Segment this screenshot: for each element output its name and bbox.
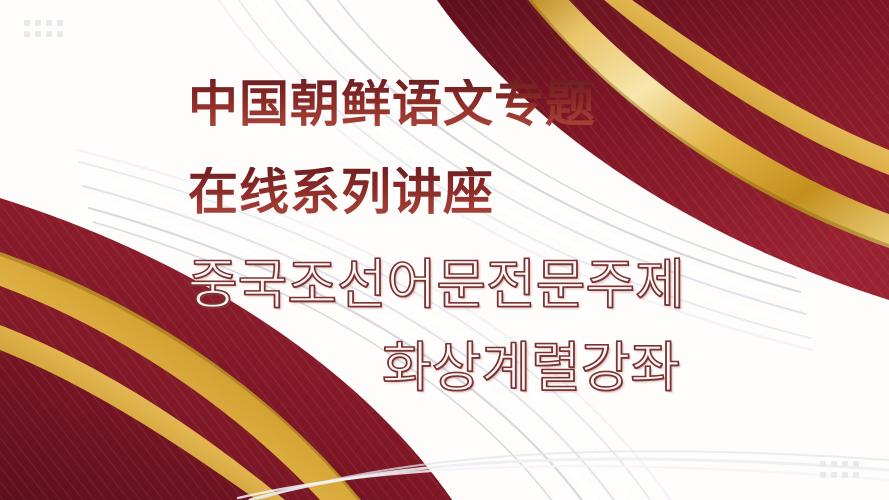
- decor-dot: [831, 472, 837, 478]
- decor-dot: [820, 472, 826, 478]
- dot-grid-top-left: [24, 20, 63, 37]
- decor-dot: [820, 461, 826, 467]
- decor-dot: [853, 461, 859, 467]
- decor-dot: [46, 20, 52, 26]
- decor-dot: [853, 472, 859, 478]
- decor-dot: [57, 31, 63, 37]
- decor-dot: [842, 472, 848, 478]
- decor-dot: [24, 31, 30, 37]
- dot-grid-bottom-right: [820, 461, 859, 478]
- decor-dot: [24, 20, 30, 26]
- decor-dot: [35, 31, 41, 37]
- decor-dot: [57, 20, 63, 26]
- decor-dot: [46, 31, 52, 37]
- decor-dot: [831, 461, 837, 467]
- decor-dot: [842, 461, 848, 467]
- title-slide: 中国朝鲜语文专题 在线系列讲座 중국조선어문전문주제 화상계렬강좌: [0, 0, 889, 500]
- decor-dot: [35, 20, 41, 26]
- decorative-background: [0, 0, 889, 500]
